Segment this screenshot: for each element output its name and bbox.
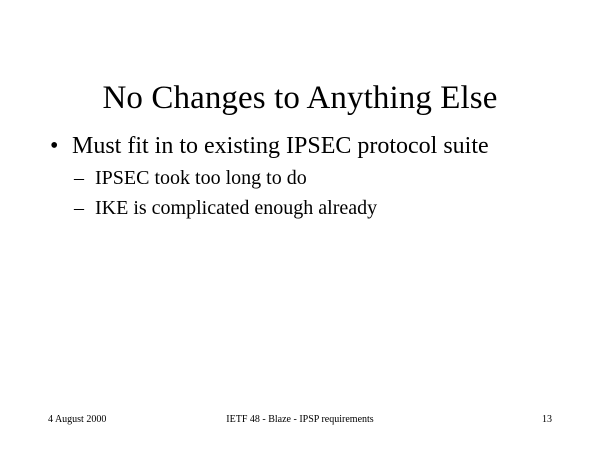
list-item: – IKE is complicated enough already	[0, 193, 600, 223]
list-item: • Must fit in to existing IPSEC protocol…	[0, 130, 600, 163]
list-item: – IPSEC took too long to do	[0, 163, 600, 193]
list-item-label: IPSEC took too long to do	[95, 167, 307, 189]
slide-body-list: • Must fit in to existing IPSEC protocol…	[0, 130, 600, 223]
list-item-label: IKE is complicated enough already	[95, 197, 377, 219]
list-item-label: Must fit in to existing IPSEC protocol s…	[72, 133, 489, 159]
page-title: No Changes to Anything Else	[0, 78, 600, 118]
bullet-dot-icon: •	[50, 130, 70, 163]
footer-page-number: 13	[500, 412, 552, 428]
presentation-slide: No Changes to Anything Else • Must fit i…	[0, 0, 600, 450]
bullet-dash-icon: –	[74, 193, 94, 223]
slide-footer: 4 August 2000 IETF 48 - Blaze - IPSP req…	[0, 412, 600, 428]
bullet-dash-icon: –	[74, 163, 94, 193]
